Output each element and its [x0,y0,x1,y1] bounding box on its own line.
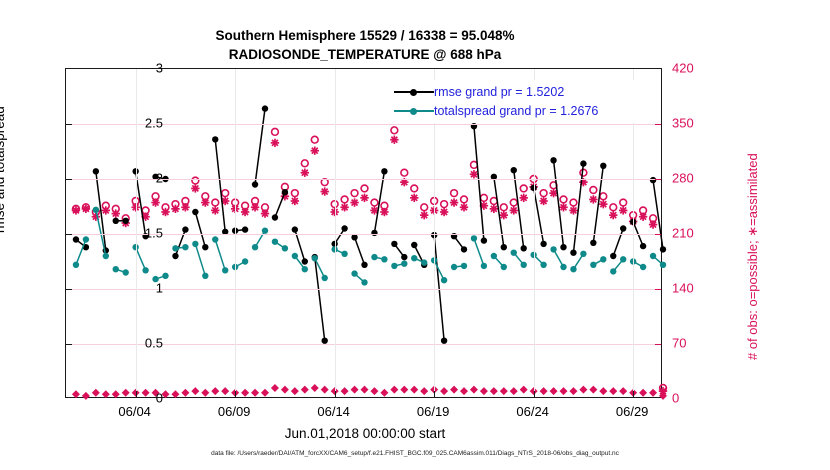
obs-assimilated-marker [450,198,458,206]
obs-rejected-marker [589,386,597,394]
obs-possible-marker [560,196,567,203]
obs-possible-marker [341,196,348,203]
obs-rejected-marker [609,387,617,395]
data-point [182,226,188,232]
data-point [600,256,606,262]
data-point [113,218,119,224]
obs-assimilated-marker [510,206,518,214]
obs-rejected-marker [341,387,349,395]
obs-assimilated-marker [301,169,309,177]
obs-rejected-marker [301,386,309,394]
data-point [481,263,487,269]
data-point [162,273,168,279]
y-tick-label-right: 350 [672,116,694,131]
y-axis-label-left: rmse and totalspread [0,106,7,233]
obs-rejected-marker [390,386,398,394]
obs-assimilated-marker [500,211,508,219]
obs-rejected-marker [201,389,209,397]
y-tick-label-right: 420 [672,61,694,76]
obs-assimilated-marker [559,203,567,211]
y-tick-label-left: 3 [156,61,163,76]
obs-assimilated-marker [569,206,577,214]
obs-assimilated-marker [470,170,478,178]
gridline-vertical [136,69,137,397]
obs-rejected-marker [122,389,130,397]
obs-possible-marker [461,196,468,203]
data-point [103,253,109,259]
obs-assimilated-marker [589,195,597,203]
obs-assimilated-marker [181,203,189,211]
data-point [640,243,646,249]
obs-rejected-marker [370,387,378,395]
y-tick-label-left: 0 [156,391,163,406]
data-point [262,105,268,111]
data-point [560,244,566,250]
data-point [620,256,626,262]
obs-assimilated-marker [360,194,368,202]
y-tick-mark-right [655,289,661,290]
obs-rejected-marker [440,387,448,395]
data-point [113,266,119,272]
obs-rejected-marker [191,387,199,395]
data-point [172,253,178,259]
x-tick-mark [335,391,336,397]
obs-possible-marker [520,185,527,192]
obs-assimilated-marker [261,209,269,217]
obs-rejected-marker [321,386,329,394]
data-point [590,240,596,246]
obs-possible-marker [481,194,488,201]
data-point [202,273,208,279]
obs-rejected-marker [619,387,627,395]
x-tick-label: 06/14 [317,404,350,419]
obs-assimilated-marker [251,203,259,211]
y-tick-label-right: 280 [672,171,694,186]
data-point [341,251,347,257]
data-point [83,236,89,242]
data-point [570,266,576,272]
y-tick-mark-left [66,179,72,180]
obs-assimilated-marker [171,205,179,213]
data-point [660,246,666,252]
obs-rejected-marker [560,387,568,395]
data-point [451,264,457,270]
obs-assimilated-marker [271,139,279,147]
x-tick-label: 06/04 [118,404,151,419]
data-point [192,241,198,247]
data-point [481,237,487,243]
data-point [272,214,278,220]
obs-rejected-marker [639,389,647,397]
y-tick-label-right: 0 [672,391,679,406]
data-point [501,264,507,270]
obs-rejected-marker [211,387,219,395]
data-point [461,263,467,269]
obs-assimilated-marker [649,220,657,228]
obs-assimilated-marker [410,194,418,202]
data-point [123,269,129,275]
data-point [521,262,527,268]
obs-rejected-marker [490,387,498,395]
obs-possible-marker [620,199,627,206]
x-tick-mark [136,391,137,397]
y-tick-label-right: 140 [672,281,694,296]
x-tick-label: 06/19 [417,404,450,419]
obs-assimilated-marker [340,203,348,211]
obs-possible-marker [391,127,398,134]
data-point [371,230,377,236]
data-point [501,244,507,250]
obs-rejected-marker [380,389,388,397]
obs-possible-marker [212,199,219,206]
obs-assimilated-marker [161,208,169,216]
obs-assimilated-marker [321,187,329,195]
obs-possible-marker [351,190,358,197]
obs-possible-marker [610,204,617,211]
data-point [172,245,178,251]
obs-rejected-marker [569,387,577,395]
data-point [381,168,387,174]
obs-rejected-marker [579,386,587,394]
legend-marker-totalspread [394,105,434,117]
y-tick-label-right: 210 [672,226,694,241]
data-point [93,207,99,213]
data-point [550,157,556,163]
obs-possible-marker [471,161,478,168]
data-point [322,338,328,344]
data-point [401,261,407,267]
obs-assimilated-marker [490,205,498,213]
obs-rejected-marker [142,389,150,397]
data-point [242,226,248,232]
obs-rejected-marker [261,389,269,397]
gridline-vertical [235,69,236,397]
y-tick-label-left: 2.5 [145,116,163,131]
legend-item-rmse[interactable]: rmse grand pr = 1.5202 [394,82,648,101]
legend-item-totalspread[interactable]: totalspread grand pr = 1.2676 [394,101,648,120]
obs-assimilated-marker [599,200,607,208]
obs-possible-marker [500,204,507,211]
x-axis-label: Jun.01,2018 00:00:00 start [0,426,730,441]
y-tick-mark-right [655,179,661,180]
obs-rejected-marker [400,386,408,394]
obs-rejected-marker [520,386,528,394]
data-point [312,255,318,261]
data-point [192,209,198,215]
obs-possible-marker [311,136,318,143]
obs-possible-marker [401,169,408,176]
data-point [610,253,616,259]
obs-assimilated-marker [201,198,209,206]
data-point [511,250,517,256]
obs-assimilated-marker [92,213,100,221]
obs-assimilated-marker [390,136,398,144]
obs-possible-marker [540,190,547,197]
x-tick-mark [633,391,634,397]
obs-assimilated-marker [520,194,528,202]
obs-rejected-marker [171,390,179,398]
obs-rejected-marker [72,390,80,398]
obs-rejected-marker [450,386,458,394]
obs-rejected-marker [500,387,508,395]
data-file-footer: data file: /Users/raeder/DAI/ATM_forcXX/… [0,450,830,457]
data-point [590,262,596,268]
data-point [491,253,497,259]
obs-assimilated-marker [311,147,319,155]
data-point [391,241,397,247]
data-point [560,264,566,270]
y-tick-label-left: 1.5 [145,226,163,241]
obs-possible-marker [451,190,458,197]
data-point [371,254,377,260]
y-tick-label-left: 1 [156,281,163,296]
data-point [361,279,367,285]
obs-possible-marker [510,199,517,206]
data-point [73,262,79,268]
data-point [391,263,397,269]
obs-assimilated-marker [539,197,547,205]
obs-possible-marker [272,128,279,135]
data-point [441,338,447,344]
y-tick-mark-left [66,344,72,345]
obs-rejected-marker [92,389,100,397]
data-point [252,244,258,250]
data-point [381,256,387,262]
obs-assimilated-marker [211,206,219,214]
obs-rejected-marker [311,384,319,392]
obs-rejected-marker [221,387,229,395]
data-point [262,228,268,234]
data-point [351,270,357,276]
obs-assimilated-marker [460,203,468,211]
data-point [660,262,666,268]
y-tick-mark-left [66,234,72,235]
obs-rejected-marker [410,386,418,394]
data-point [540,262,546,268]
legend-marker-rmse [394,86,434,98]
x-tick-label: 06/29 [616,404,649,419]
obs-assimilated-marker [241,208,249,216]
obs-rejected-marker [510,387,518,395]
x-tick-mark [235,391,236,397]
obs-rejected-marker [550,387,558,395]
obs-rejected-marker [112,390,120,398]
title-line-1: Southern Hemisphere 15529 / 16338 = 95.0… [0,26,730,45]
obs-possible-marker [291,190,298,197]
obs-rejected-marker [271,384,279,392]
obs-rejected-marker [82,392,90,400]
data-point [600,163,606,169]
obs-possible-marker [421,204,428,211]
obs-possible-marker [441,201,448,208]
obs-rejected-marker [291,387,299,395]
data-point [441,277,447,283]
data-point [123,218,129,224]
data-point [322,275,328,281]
obs-rejected-marker [540,387,548,395]
data-point [242,258,248,264]
data-point [202,244,208,250]
data-point [580,251,586,257]
obs-assimilated-marker [82,205,90,213]
obs-rejected-marker [420,387,428,395]
obs-possible-marker [361,185,368,192]
data-point [401,254,407,260]
obs-assimilated-marker [380,208,388,216]
y-axis-label-right: # of obs: o=possible; ∗=assimilated [745,153,761,360]
chart-title: Southern Hemisphere 15529 / 16338 = 95.0… [0,26,730,64]
obs-possible-marker [222,190,229,197]
data-point [521,245,527,251]
data-point [580,160,586,166]
y-tick-label-right: 70 [672,336,686,351]
y-tick-mark-left [66,124,72,125]
data-point [650,177,656,183]
legend-label-rmse: rmse grand pr = 1.5202 [434,85,564,99]
obs-assimilated-marker [350,198,358,206]
y-tick-mark-right [655,124,661,125]
obs-rejected-marker [351,386,359,394]
obs-possible-marker [600,193,607,200]
data-point [182,244,188,250]
data-point [212,136,218,142]
obs-assimilated-marker [619,206,627,214]
y-tick-label-left: 0.5 [145,336,163,351]
data-point [351,234,357,240]
title-line-2: RADIOSONDE_TEMPERATURE @ 688 hPa [0,45,730,64]
y-tick-mark-right [655,344,661,345]
x-tick-mark [434,391,435,397]
obs-rejected-marker [480,387,488,395]
obs-assimilated-marker [639,213,647,221]
x-tick-label: 06/24 [516,404,549,419]
obs-assimilated-marker [72,206,80,214]
data-point [142,267,148,273]
data-point [212,236,218,242]
data-point [511,167,517,173]
obs-assimilated-marker [102,206,110,214]
obs-possible-marker [371,199,378,206]
data-point [282,189,288,195]
data-point [550,246,556,252]
data-point [411,255,417,261]
obs-assimilated-marker [609,211,617,219]
obs-rejected-marker [460,387,468,395]
obs-assimilated-marker [440,208,448,216]
obs-assimilated-marker [191,184,199,192]
data-point [650,253,656,259]
figure-root: Southern Hemisphere 15529 / 16338 = 95.0… [0,0,830,470]
x-tick-label: 06/09 [218,404,251,419]
data-point [292,226,298,232]
data-point [461,246,467,252]
obs-assimilated-marker [151,198,159,206]
data-point [222,267,228,273]
data-point [302,258,308,264]
obs-assimilated-marker [420,211,428,219]
obs-rejected-marker [470,386,478,394]
x-tick-mark [534,391,535,397]
y-tick-label-left: 2 [156,171,163,186]
obs-rejected-marker [649,389,657,397]
data-point [252,181,258,187]
obs-rejected-marker [241,389,249,397]
data-point [341,225,347,231]
legend-dot [410,108,417,115]
data-point [282,245,288,251]
data-point [361,262,367,268]
data-point [292,253,298,259]
legend-dot [410,89,417,96]
obs-possible-marker [411,185,418,192]
y-tick-mark-right [655,234,661,235]
data-point [411,242,417,248]
data-point [73,236,79,242]
data-point [471,235,477,241]
obs-possible-marker [301,160,308,167]
data-point [272,239,278,245]
obs-rejected-marker [599,387,607,395]
gridline-vertical [335,69,336,397]
obs-rejected-marker [102,390,110,398]
obs-rejected-marker [361,386,369,394]
data-point [570,250,576,256]
obs-assimilated-marker [291,197,299,205]
obs-assimilated-marker [112,209,120,217]
legend-label-totalspread: totalspread grand pr = 1.2676 [434,104,598,118]
obs-rejected-marker [251,389,259,397]
data-point [540,241,546,247]
data-point [620,225,626,231]
data-point [421,259,427,265]
y-tick-mark-left [66,289,72,290]
obs-possible-marker [590,187,597,194]
obs-rejected-marker [281,386,289,394]
data-point [610,268,616,274]
legend: rmse grand pr = 1.5202 totalspread grand… [390,80,652,123]
data-point [302,266,308,272]
obs-rejected-marker [181,389,189,397]
data-point [93,168,99,174]
obs-possible-marker [570,199,577,206]
data-point [640,264,646,270]
